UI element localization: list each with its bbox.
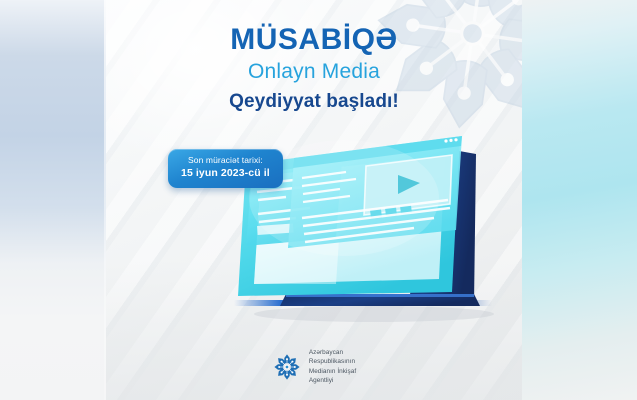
deadline-badge-label: Son müraciət tarixi:: [181, 155, 270, 166]
poster-canvas: MÜSABİQƏ Onlayn Media Qeydiyyat başladı!…: [106, 0, 522, 400]
headline-block: MÜSABİQƏ Onlayn Media Qeydiyyat başladı!: [106, 24, 522, 118]
agency-logo-text: Azərbaycan Respublikasının Medianın İnki…: [309, 348, 356, 386]
right-edge-band: [522, 0, 637, 400]
agency-logo-line-1: Azərbaycan: [309, 348, 356, 358]
headline-subtitle: Onlayn Media: [106, 56, 522, 88]
deadline-badge-date: 15 iyun 2023-cü il: [181, 166, 270, 180]
agency-emblem-icon: [272, 352, 302, 382]
agency-logo-line-3: Medianın İnkişaf: [309, 367, 356, 377]
left-edge-band: [0, 0, 106, 400]
headline-title: MÜSABİQƏ: [106, 24, 522, 56]
agency-logo: Azərbaycan Respublikasının Medianın İnki…: [106, 348, 522, 386]
deadline-badge: Son müraciət tarixi: 15 iyun 2023-cü il: [168, 149, 283, 188]
headline-tagline: Qeydiyyat başladı!: [106, 87, 522, 117]
poster-image: MÜSABİQƏ Onlayn Media Qeydiyyat başladı!…: [0, 0, 637, 400]
agency-logo-line-2: Respublikasının: [309, 357, 356, 367]
agency-logo-line-4: Agentliyi: [309, 376, 356, 386]
